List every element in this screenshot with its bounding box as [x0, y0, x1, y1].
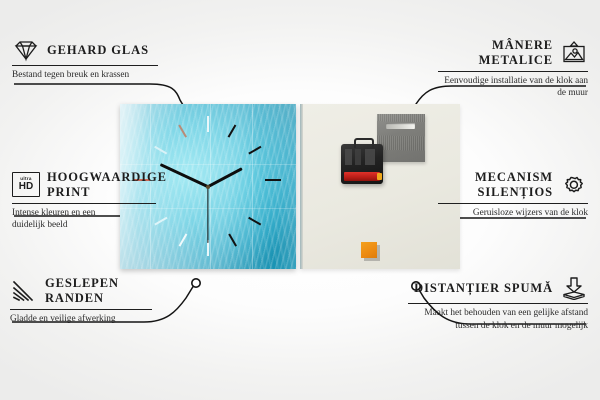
glass-edge — [300, 104, 303, 269]
product-image — [120, 104, 460, 269]
feature-subtitle: Geruisloze wijzers van de klok — [438, 207, 588, 220]
feature-subtitle: Maakt het behouden van een gelijke afsta… — [408, 307, 588, 333]
mechanism-face — [345, 149, 379, 165]
feature-subtitle: Bestand tegen breuk en krassen — [12, 69, 132, 82]
feature-geslepen-randen: GESLEPEN RANDEN Gladde en veilige afwerk… — [10, 276, 170, 325]
hour-marker — [265, 179, 281, 181]
clock-back-panel — [300, 104, 460, 269]
clock-mechanism — [341, 144, 383, 184]
feature-title: GEHARD GLAS — [47, 43, 149, 58]
infographic-canvas: GEHARD GLAS Bestand tegen breuk en krass… — [0, 0, 600, 400]
feature-subtitle: Intense kleuren en een duidelijk beeld — [12, 207, 124, 233]
feature-manere-metalice: MÂNERE METALICE Eenvoudige installatie v… — [438, 38, 588, 100]
diamond-icon — [12, 38, 40, 62]
glass-seam — [252, 104, 253, 269]
picture-frame-icon — [560, 41, 588, 65]
hour-marker — [207, 116, 209, 132]
foam-spacer — [361, 242, 377, 258]
feature-title: MECANISM SILENȚIOS — [438, 170, 553, 200]
feature-mecanism-silentios: MECANISM SILENȚIOS Geruisloze wijzers va… — [438, 170, 588, 219]
battery — [344, 172, 380, 181]
gear-icon — [560, 173, 588, 197]
ultra-hd-icon-hd: HD — [19, 182, 33, 192]
feature-title: HOOGWAARDIGE PRINT — [47, 170, 167, 200]
feature-rule — [12, 203, 156, 204]
feature-gehard-glas: GEHARD GLAS Bestand tegen breuk en krass… — [12, 38, 162, 82]
feature-hoogwaardige-print: ultra HD HOOGWAARDIGE PRINT Intense kleu… — [12, 170, 162, 232]
feature-rule — [408, 303, 588, 304]
feature-rule — [438, 71, 588, 72]
feature-title: MÂNERE METALICE — [438, 38, 553, 68]
leader-dot-randen — [192, 279, 200, 287]
feature-title: DISTANȚIER SPUMĂ — [414, 281, 553, 296]
feature-rule — [12, 65, 158, 66]
ultra-hd-icon: ultra HD — [12, 172, 40, 197]
feature-subtitle: Gladde en veilige afwerking — [10, 313, 160, 326]
hanger-slot — [386, 123, 415, 129]
feature-distantier-spuma: DISTANȚIER SPUMĂ Maakt het behouden van … — [408, 276, 588, 333]
feature-subtitle: Eenvoudige installatie van de klok aan d… — [438, 75, 588, 101]
glass-seam-h — [120, 164, 296, 165]
beveled-edges-icon — [10, 279, 38, 303]
spacer-arrow-icon — [560, 276, 588, 300]
feature-title: GESLEPEN RANDEN — [45, 276, 170, 306]
feature-rule — [438, 203, 588, 204]
clock-hub — [206, 185, 210, 189]
feature-rule — [10, 309, 152, 310]
metal-hanger-plate — [377, 114, 425, 162]
mechanism-tab — [354, 138, 374, 148]
